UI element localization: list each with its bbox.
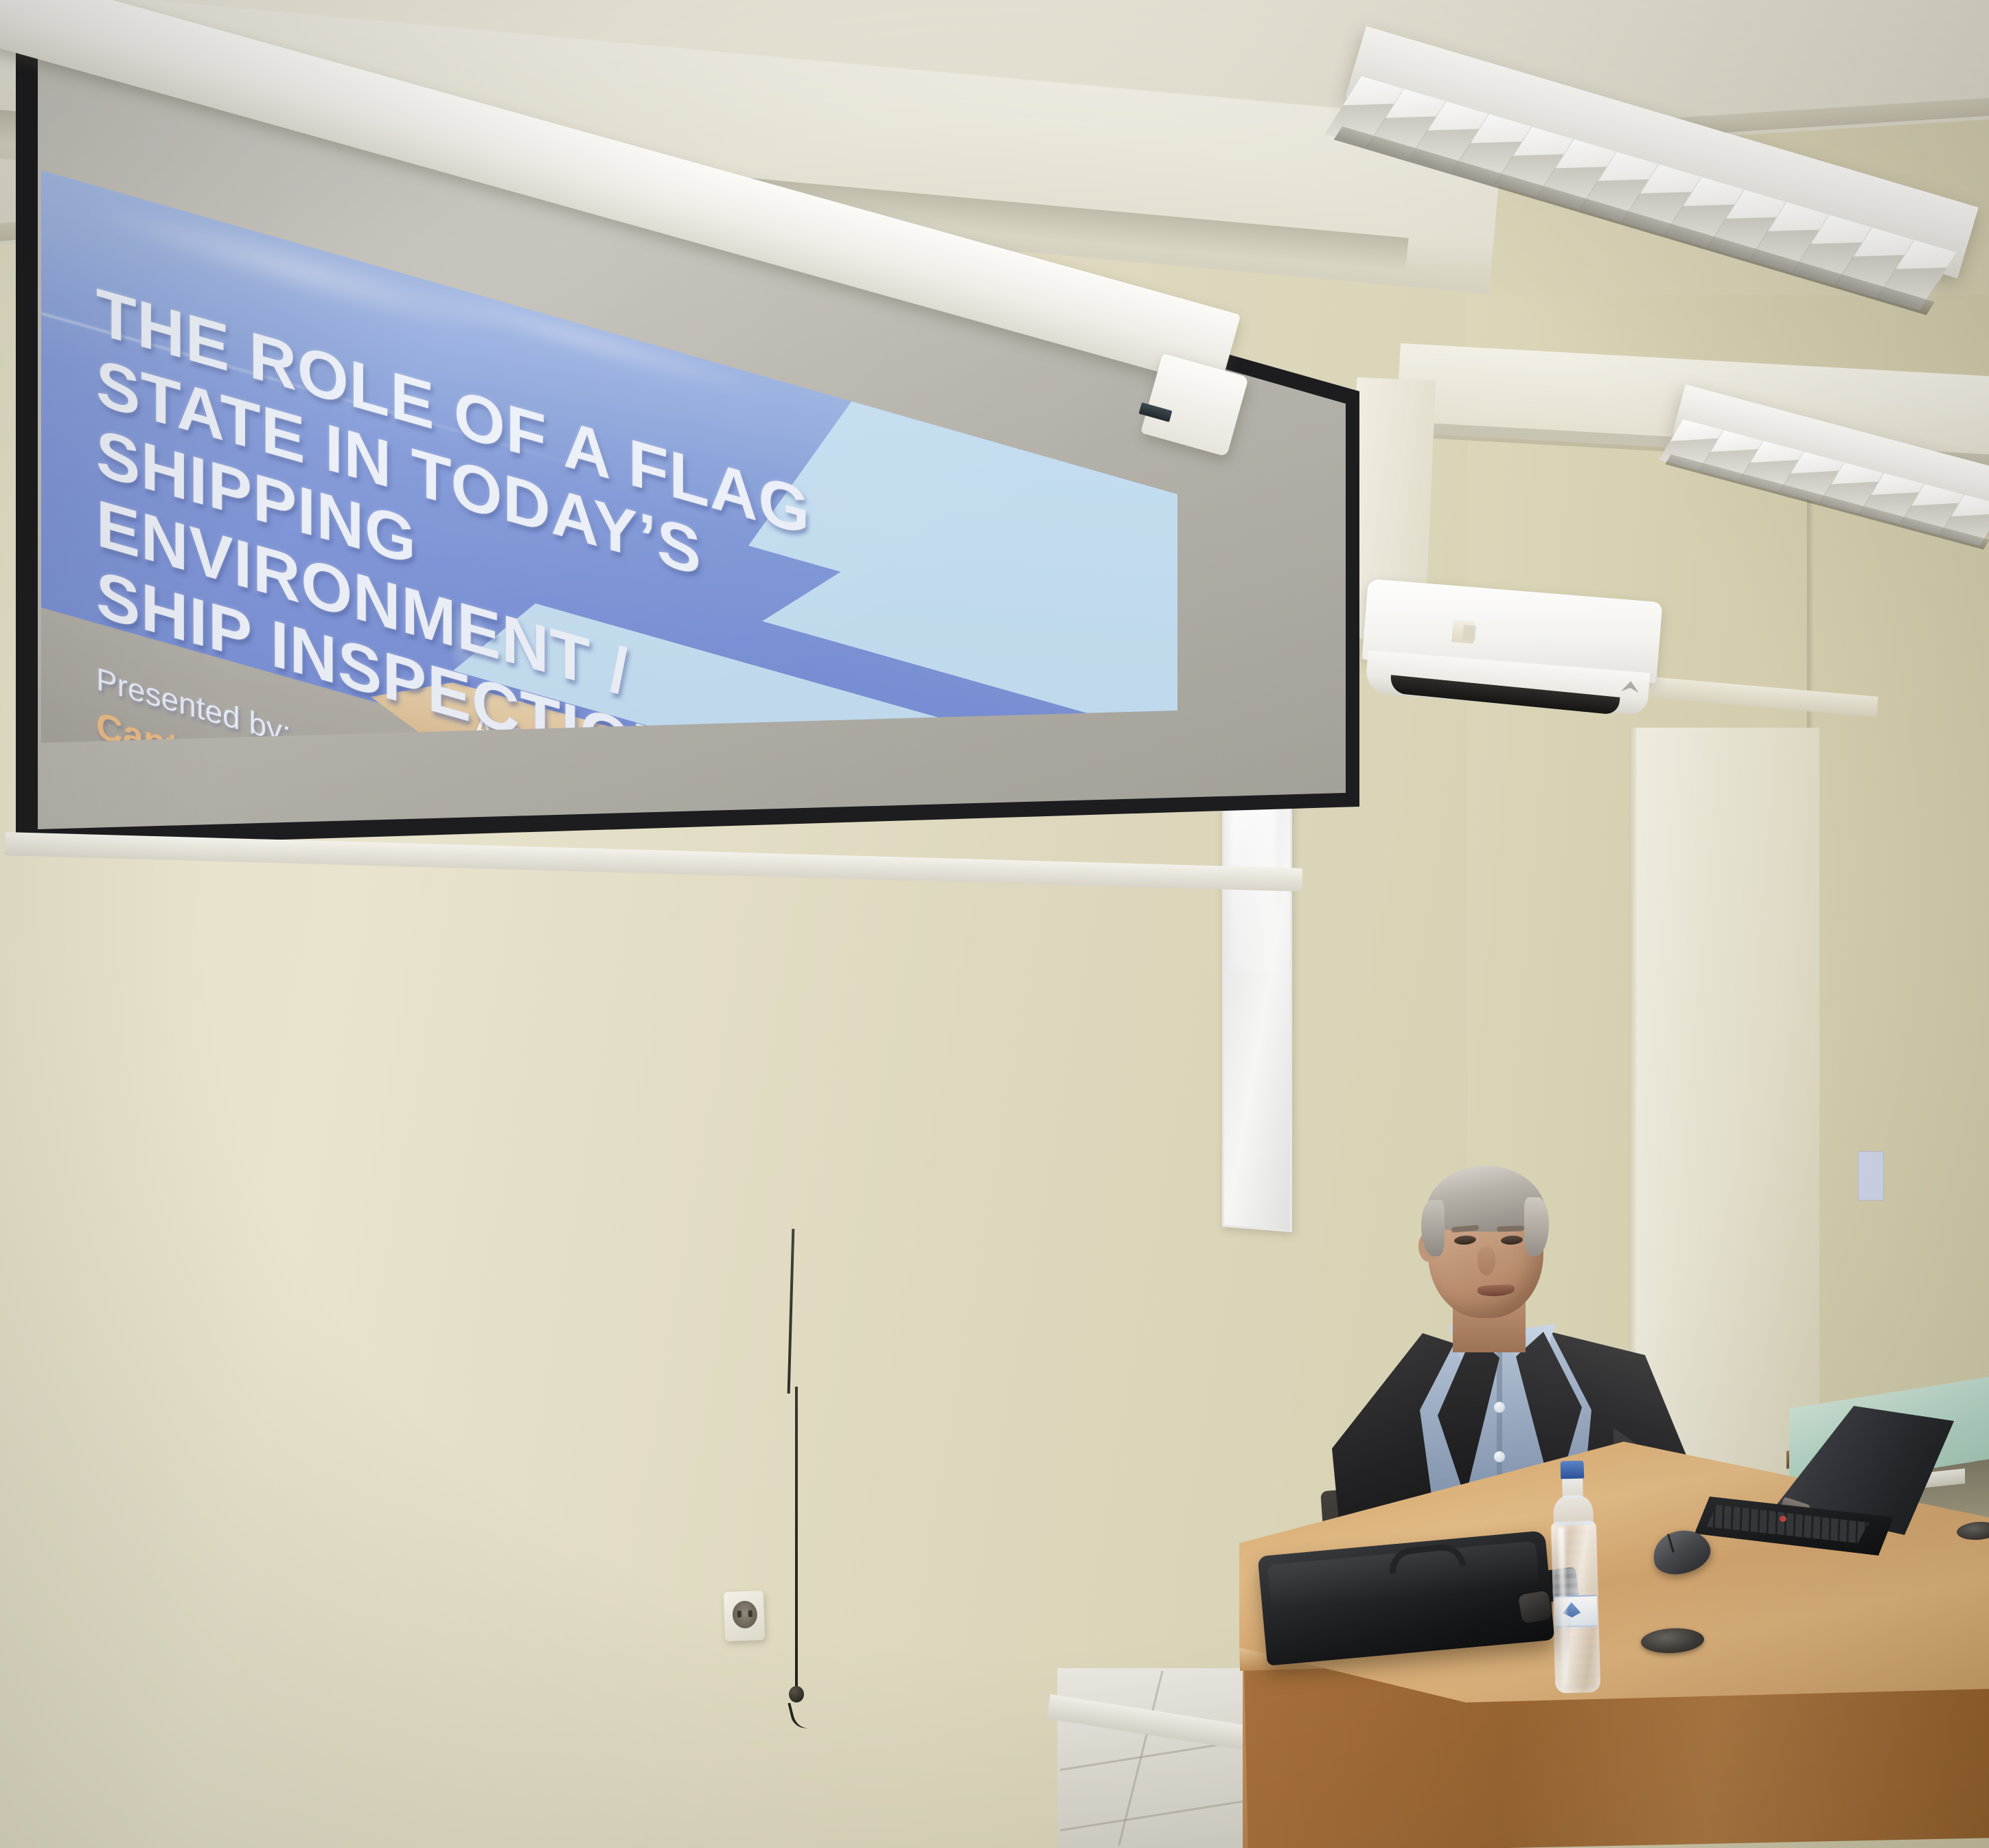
power-outlet-icon[interactable] xyxy=(724,1591,765,1641)
projection-screen-bottom-bar xyxy=(5,832,1302,892)
shirt-button xyxy=(1494,1402,1505,1413)
hair-side-left xyxy=(1421,1200,1445,1256)
trackpoint-icon[interactable] xyxy=(1780,1516,1786,1522)
water-bottle[interactable] xyxy=(1545,1460,1604,1695)
screenshot-root: A.E.N. CRETA | 28 November 2025 THE ROLE… xyxy=(0,0,1989,1848)
shirt-button xyxy=(1494,1451,1505,1462)
bottle-cap xyxy=(1561,1461,1585,1479)
projection-screen-assembly: A.E.N. CRETA | 28 November 2025 THE ROLE… xyxy=(0,0,1380,1229)
eyebrow-right xyxy=(1497,1225,1524,1232)
wall-notice-paper xyxy=(1858,1151,1884,1201)
air-conditioner-icon xyxy=(1358,579,1663,732)
pull-cord[interactable] xyxy=(795,1387,798,1689)
hair-side-right xyxy=(1524,1197,1549,1256)
nose xyxy=(1478,1247,1495,1275)
laptop-bag-strap-clip xyxy=(1518,1590,1553,1624)
